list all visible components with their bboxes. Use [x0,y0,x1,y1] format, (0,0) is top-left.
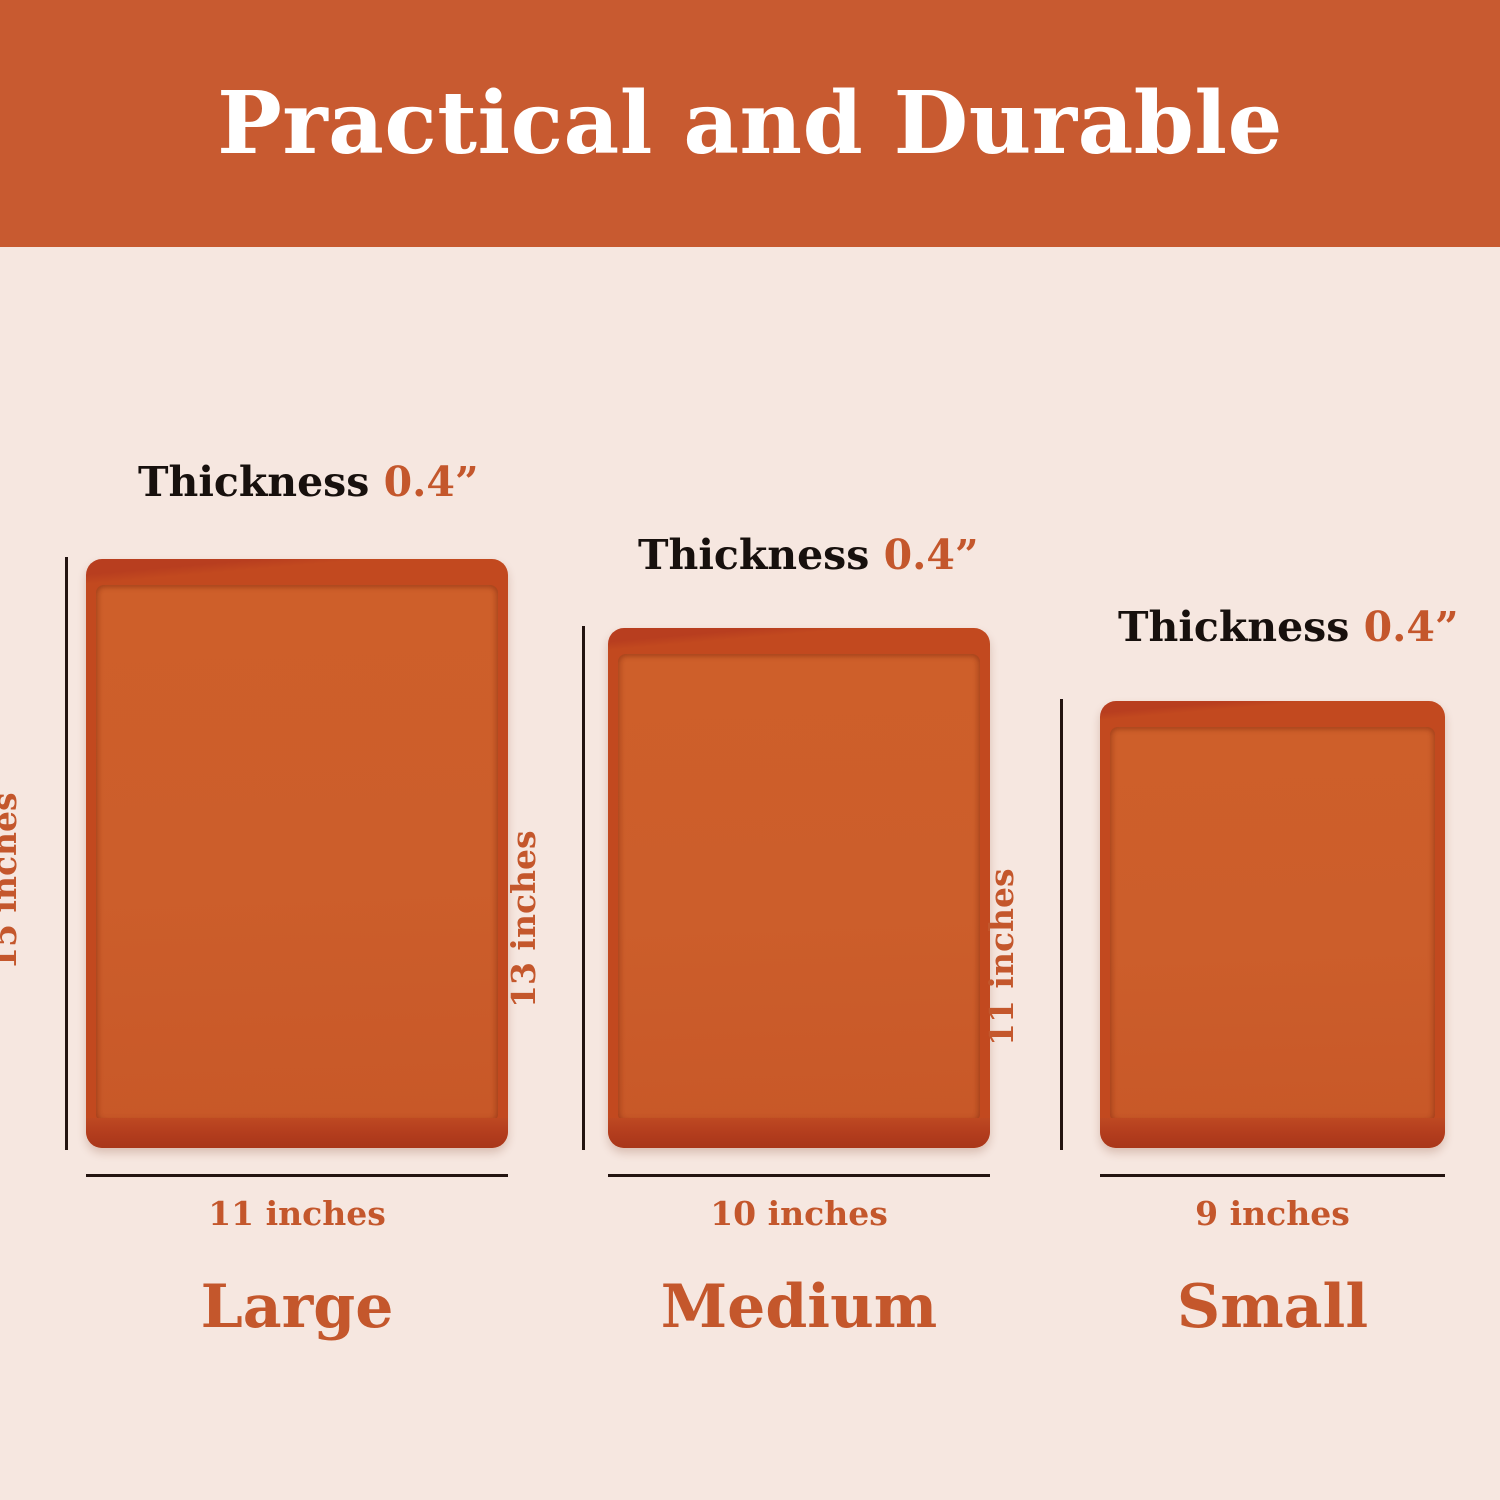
thickness-label-small: Thickness 0.4” [1118,607,1459,648]
tray-bottom-rim-small [1100,1118,1445,1148]
width-dimension-label-medium: 10 inches [608,1197,990,1230]
height-dimension-label-large: 15 inches [0,792,21,970]
tray-large [86,559,508,1148]
height-dimension-line-medium [582,626,585,1150]
size-name-medium: Medium [608,1277,990,1337]
header-banner: Practical and Durable [0,0,1500,247]
tray-inner-surface-large [96,585,498,1122]
width-dimension-label-large: 11 inches [86,1197,508,1230]
width-dimension-label-small: 9 inches [1100,1197,1445,1230]
tray-small [1100,701,1445,1148]
product-comparison-stage: Thickness 0.4” 15 inches 11 inches Large… [0,247,1500,1500]
thickness-prefix-medium: Thickness [638,531,869,579]
thickness-label-large: Thickness 0.4” [138,462,479,503]
width-dimension-line-large [86,1174,508,1177]
size-name-large: Large [86,1277,508,1337]
thickness-label-medium: Thickness 0.4” [638,535,979,576]
tray-bottom-rim-medium [608,1118,990,1148]
height-dimension-line-small [1060,699,1063,1150]
tray-bottom-rim-large [86,1118,508,1148]
height-dimension-label-small: 11 inches [985,868,1018,1046]
thickness-value-small: 0.4” [1364,603,1459,651]
thickness-prefix-large: Thickness [138,458,369,506]
tray-inner-surface-medium [618,654,980,1122]
thickness-value-medium: 0.4” [884,531,979,579]
thickness-prefix-small: Thickness [1118,603,1349,651]
size-name-small: Small [1100,1277,1445,1337]
width-dimension-line-medium [608,1174,990,1177]
height-dimension-line-large [65,557,68,1150]
width-dimension-line-small [1100,1174,1445,1177]
height-dimension-label-medium: 13 inches [507,830,540,1008]
tray-medium [608,628,990,1148]
thickness-value-large: 0.4” [384,458,479,506]
page-title: Practical and Durable [217,81,1283,167]
tray-inner-surface-small [1110,727,1435,1122]
